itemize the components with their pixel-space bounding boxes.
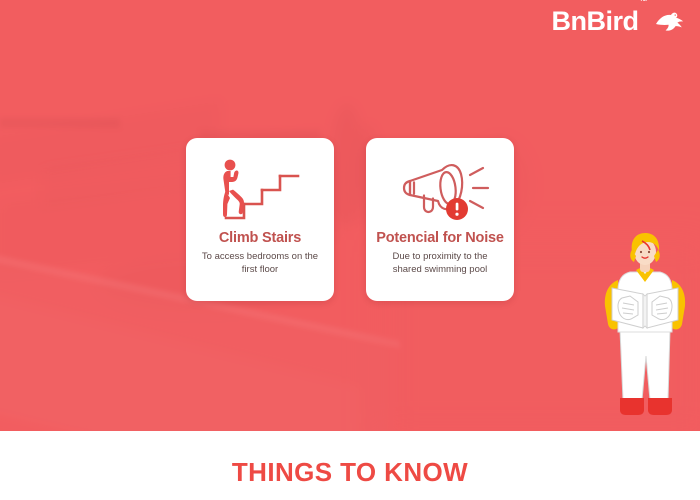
card-title: Potencial for Noise (376, 230, 504, 246)
card-subtitle: Due to proximity to the shared swimming … (375, 251, 505, 277)
card-subtitle: To access bedrooms on the first floor (195, 251, 325, 277)
info-card-climb-stairs[interactable]: Climb Stairs To access bedrooms on the f… (186, 138, 334, 301)
footer-section: THINGS TO KNOW (0, 431, 700, 500)
info-card-potential-for-noise[interactable]: Potencial for Noise Due to proximity to … (366, 138, 514, 301)
footer-title: THINGS TO KNOW (232, 457, 468, 488)
brand-name: BnBird™ (552, 8, 647, 35)
person-reading-book-illustration (596, 232, 694, 431)
trademark-symbol: ™ (640, 0, 648, 6)
card-title: Climb Stairs (219, 230, 301, 246)
brand-name-text: BnBird (552, 6, 639, 36)
slide-canvas: BnBird™ (0, 0, 700, 500)
brand-logo[interactable]: BnBird™ (552, 8, 685, 35)
dove-icon (654, 11, 684, 33)
info-card-list: Climb Stairs To access bedrooms on the f… (186, 138, 514, 301)
climb-stairs-icon (208, 154, 312, 228)
megaphone-alert-icon (384, 154, 496, 228)
hero-section: BnBird™ (0, 0, 700, 431)
